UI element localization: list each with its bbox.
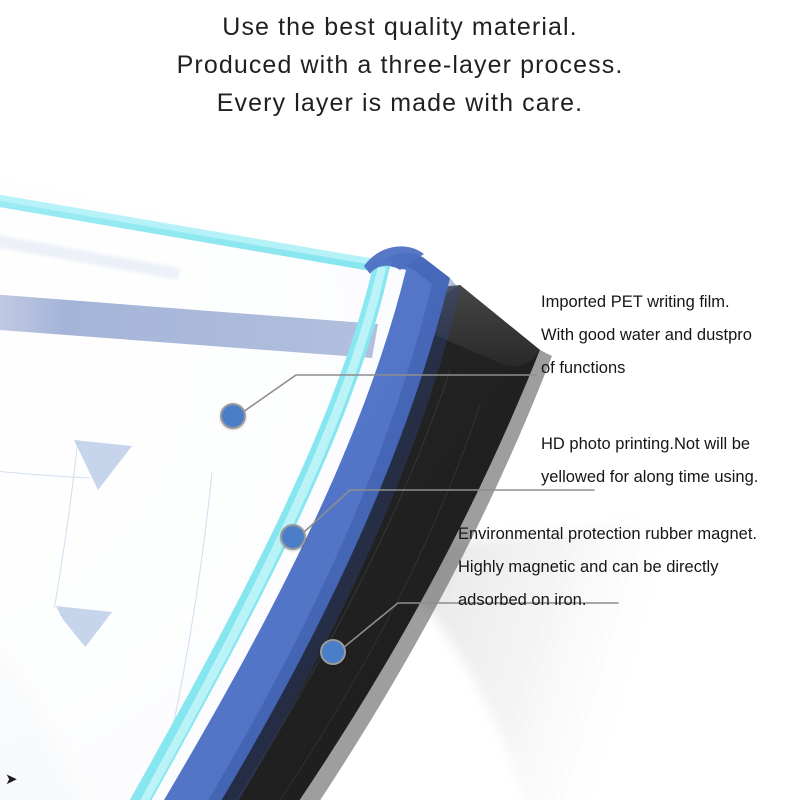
annotation-3-line-3: adsorbed on iron. (458, 584, 757, 617)
callout-dot-pet-film[interactable] (220, 403, 246, 429)
header-line-1: Use the best quality material. (0, 8, 800, 46)
header-line-3: Every layer is made with care. (0, 84, 800, 122)
annotation-rubber-magnet: Environmental protection rubber magnet. … (458, 518, 757, 617)
callout-dot-hd-printing[interactable] (280, 524, 306, 550)
callout-dot-rubber-magnet[interactable] (320, 639, 346, 665)
annotation-hd-printing: HD photo printing.Not will be yellowed f… (541, 428, 758, 494)
corner-arrow-icon: ➤ (5, 772, 18, 787)
annotation-3-line-1: Environmental protection rubber magnet. (458, 518, 757, 551)
header-block: Use the best quality material. Produced … (0, 8, 800, 122)
annotation-2-line-1: HD photo printing.Not will be (541, 428, 758, 461)
annotation-1-line-3: of functions (541, 352, 752, 385)
annotation-1-line-2: With good water and dustpro (541, 319, 752, 352)
header-line-2: Produced with a three-layer process. (0, 46, 800, 84)
annotation-2-line-2: yellowed for along time using. (541, 461, 758, 494)
annotation-3-line-2: Highly magnetic and can be directly (458, 551, 757, 584)
infographic-canvas: Use the best quality material. Produced … (0, 0, 800, 800)
annotation-pet-film: Imported PET writing film. With good wat… (541, 286, 752, 385)
annotation-1-line-1: Imported PET writing film. (541, 286, 752, 319)
